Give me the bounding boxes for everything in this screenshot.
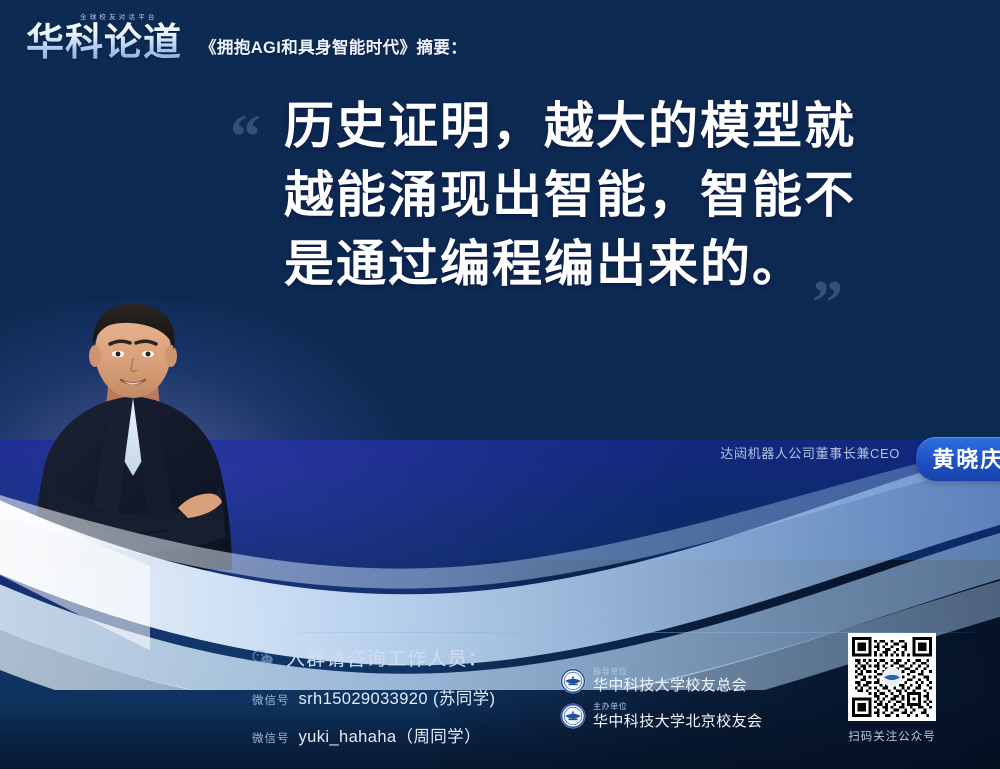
organizer-row: 主办单位 华中科技大学北京校友会 — [560, 703, 850, 729]
organizer-kind: 主办单位 — [593, 703, 762, 711]
quote-line: 越能涌现出智能，智能不 — [284, 161, 942, 230]
poster-header: 全球校友对话平台 华科论道 《拥抱AGI和具身智能时代》摘要： — [26, 14, 467, 65]
organizer-list: 指导单位 华中科技大学校友总会 主办单位 华中科技大学北京校友会 — [560, 668, 850, 738]
quote-line: 历史证明，越大的模型就 — [284, 92, 942, 161]
wechat-icon — [252, 649, 274, 667]
brand-name: 华科论道 — [26, 14, 182, 65]
contact-label: 微信号 — [252, 730, 290, 746]
qr-caption: 扫码关注公众号 — [840, 728, 944, 744]
contact-value[interactable]: yuki_hahaha（周同学） — [299, 723, 481, 747]
contact-label: 微信号 — [252, 692, 290, 708]
quote-text: 历史证明，越大的模型就 越能涌现出智能，智能不 是通过编程编出来的。 — [284, 92, 942, 299]
footer-heading: 入群请咨询工作人员： — [286, 644, 488, 671]
poster-canvas: 全球校友对话平台 华科论道 《拥抱AGI和具身智能时代》摘要： “ 历史证明，越… — [0, 0, 1000, 769]
open-quote-icon: “ — [230, 106, 261, 168]
footer-heading-row: 入群请咨询工作人员： — [252, 644, 852, 671]
organizer-texts: 指导单位 华中科技大学校友总会 — [593, 668, 747, 694]
university-seal-icon — [560, 668, 586, 694]
speaker-attribution: 达闼机器人公司董事长兼CEO 黄晓庆 — [720, 443, 922, 462]
speaker-role: 达闼机器人公司董事长兼CEO — [720, 443, 922, 462]
qr-block: 扫码关注公众号 — [840, 633, 944, 744]
organizer-name: 华中科技大学校友总会 — [593, 678, 747, 694]
quote-line: 是通过编程编出来的。 — [284, 230, 942, 299]
close-quote-icon: ” — [812, 272, 843, 334]
quote-block: “ 历史证明，越大的模型就 越能涌现出智能，智能不 是通过编程编出来的。 ” — [222, 92, 942, 299]
brand-logo: 全球校友对话平台 华科论道 — [26, 14, 182, 65]
qr-code-image[interactable] — [848, 633, 936, 721]
university-seal-icon — [560, 703, 586, 729]
organizer-row: 指导单位 华中科技大学校友总会 — [560, 668, 850, 694]
organizer-texts: 主办单位 华中科技大学北京校友会 — [593, 703, 762, 729]
speaker-name-badge: 黄晓庆 — [916, 437, 1000, 481]
contact-value[interactable]: srh15029033920 (苏同学) — [299, 685, 496, 709]
organizer-kind: 指导单位 — [593, 668, 747, 676]
organizer-name: 华中科技大学北京校友会 — [593, 714, 762, 730]
page-title: 《拥抱AGI和具身智能时代》摘要： — [200, 34, 467, 65]
